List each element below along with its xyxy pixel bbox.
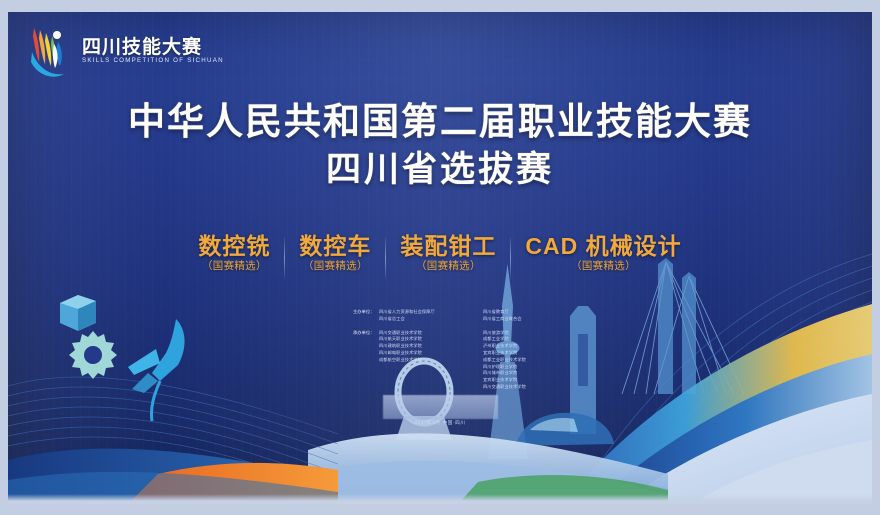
organizer-item: 宜宾职业技术学院 xyxy=(483,377,587,384)
host-label: 主办单位： xyxy=(353,309,379,323)
competition-logo: 四川技能大赛 SKILLS COMPETITION OF SICHUAN xyxy=(24,22,224,80)
category-name: CAD 机械设计 xyxy=(525,234,681,258)
organizer-item: 四川交通职业技术学院 xyxy=(483,384,587,391)
organizer-item: 四川建筑职业技术学院 xyxy=(379,343,483,350)
sponsor-block: 主办单位： 四川省人力资源和社会保障厅 四川省总工会 四川省教育厅 四川省工商业… xyxy=(353,309,593,398)
category-note: （国赛精选） xyxy=(525,261,681,272)
organizer-column-2: 四川旅游学院 成都工业学院 泸州职业技术学院 宜宾职业技术学院 成都工业职业技术… xyxy=(483,330,587,391)
category-item: 装配钳工 （国赛精选） xyxy=(386,234,510,272)
organizer-item: 成都航空职业技术学院 xyxy=(379,357,483,364)
organizer-column-1: 四川交通职业技术学院 四川航天职业技术学院 四川建筑职业技术学院 四川邮电职业技… xyxy=(379,330,483,391)
banner-photo: 四川技能大赛 SKILLS COMPETITION OF SICHUAN 中华人… xyxy=(0,0,880,515)
cube-icon xyxy=(60,295,96,331)
organizer-item: 宜宾职业技术学院 xyxy=(483,350,587,357)
banner-bottom-edge xyxy=(8,494,872,504)
page-title: 中华人民共和国第二届职业技能大赛 xyxy=(8,100,872,144)
logo-name-en: SKILLS COMPETITION OF SICHUAN xyxy=(82,58,224,64)
host-item: 四川省总工会 xyxy=(379,316,483,323)
category-note: （国赛精选） xyxy=(198,261,270,272)
category-name: 装配钳工 xyxy=(400,234,496,258)
host-block: 主办单位： 四川省人力资源和社会保障厅 四川省总工会 四川省教育厅 四川省工商业… xyxy=(353,309,593,323)
tech-icons-left xyxy=(48,289,258,439)
gear-icon xyxy=(69,331,117,379)
page-subtitle: 四川省选拔赛 xyxy=(8,150,872,190)
rocket-icon xyxy=(128,319,185,421)
category-name: 数控铣 xyxy=(198,234,270,258)
event-backdrop: 四川技能大赛 SKILLS COMPETITION OF SICHUAN 中华人… xyxy=(8,12,872,504)
title-block: 中华人民共和国第二届职业技能大赛 四川省选拔赛 xyxy=(8,100,872,190)
category-name: 数控车 xyxy=(299,234,371,258)
organizer-item: 四川邮电职业技术学院 xyxy=(379,350,483,357)
category-item: 数控铣 （国赛精选） xyxy=(184,234,284,272)
organizer-block: 承办单位： 四川交通职业技术学院 四川航天职业技术学院 四川建筑职业技术学院 四… xyxy=(353,330,593,391)
organizer-item: 泸州职业技术学院 xyxy=(483,343,587,350)
category-note: （国赛精选） xyxy=(299,261,371,272)
logo-name-cn: 四川技能大赛 xyxy=(82,38,224,57)
category-item: 数控车 （国赛精选） xyxy=(285,234,385,272)
category-item: CAD 机械设计 （国赛精选） xyxy=(511,234,695,272)
host-column-1: 四川省人力资源和社会保障厅 四川省总工会 xyxy=(379,309,483,323)
ribbons-left xyxy=(8,274,338,504)
sichuan-skills-emblem-icon xyxy=(24,22,74,80)
category-note: （国赛精选） xyxy=(400,261,496,272)
host-item: 四川省教育厅 xyxy=(483,309,587,316)
host-item: 四川省人力资源和社会保障厅 xyxy=(379,309,483,316)
organizer-label: 承办单位： xyxy=(353,330,379,391)
organizer-item: 成都工业职业技术学院 xyxy=(483,357,587,364)
event-datetime: 2023年3月 中国·四川 xyxy=(8,420,872,426)
photo-light-flare xyxy=(383,395,498,419)
category-list: 数控铣 （国赛精选） 数控车 （国赛精选） 装配钳工 （国赛精选） CAD 机械… xyxy=(8,234,872,279)
car-silhouette-icon xyxy=(514,413,614,446)
host-column-2: 四川省教育厅 四川省工商业联合会 xyxy=(483,309,587,323)
host-item: 四川省工商业联合会 xyxy=(483,316,587,323)
